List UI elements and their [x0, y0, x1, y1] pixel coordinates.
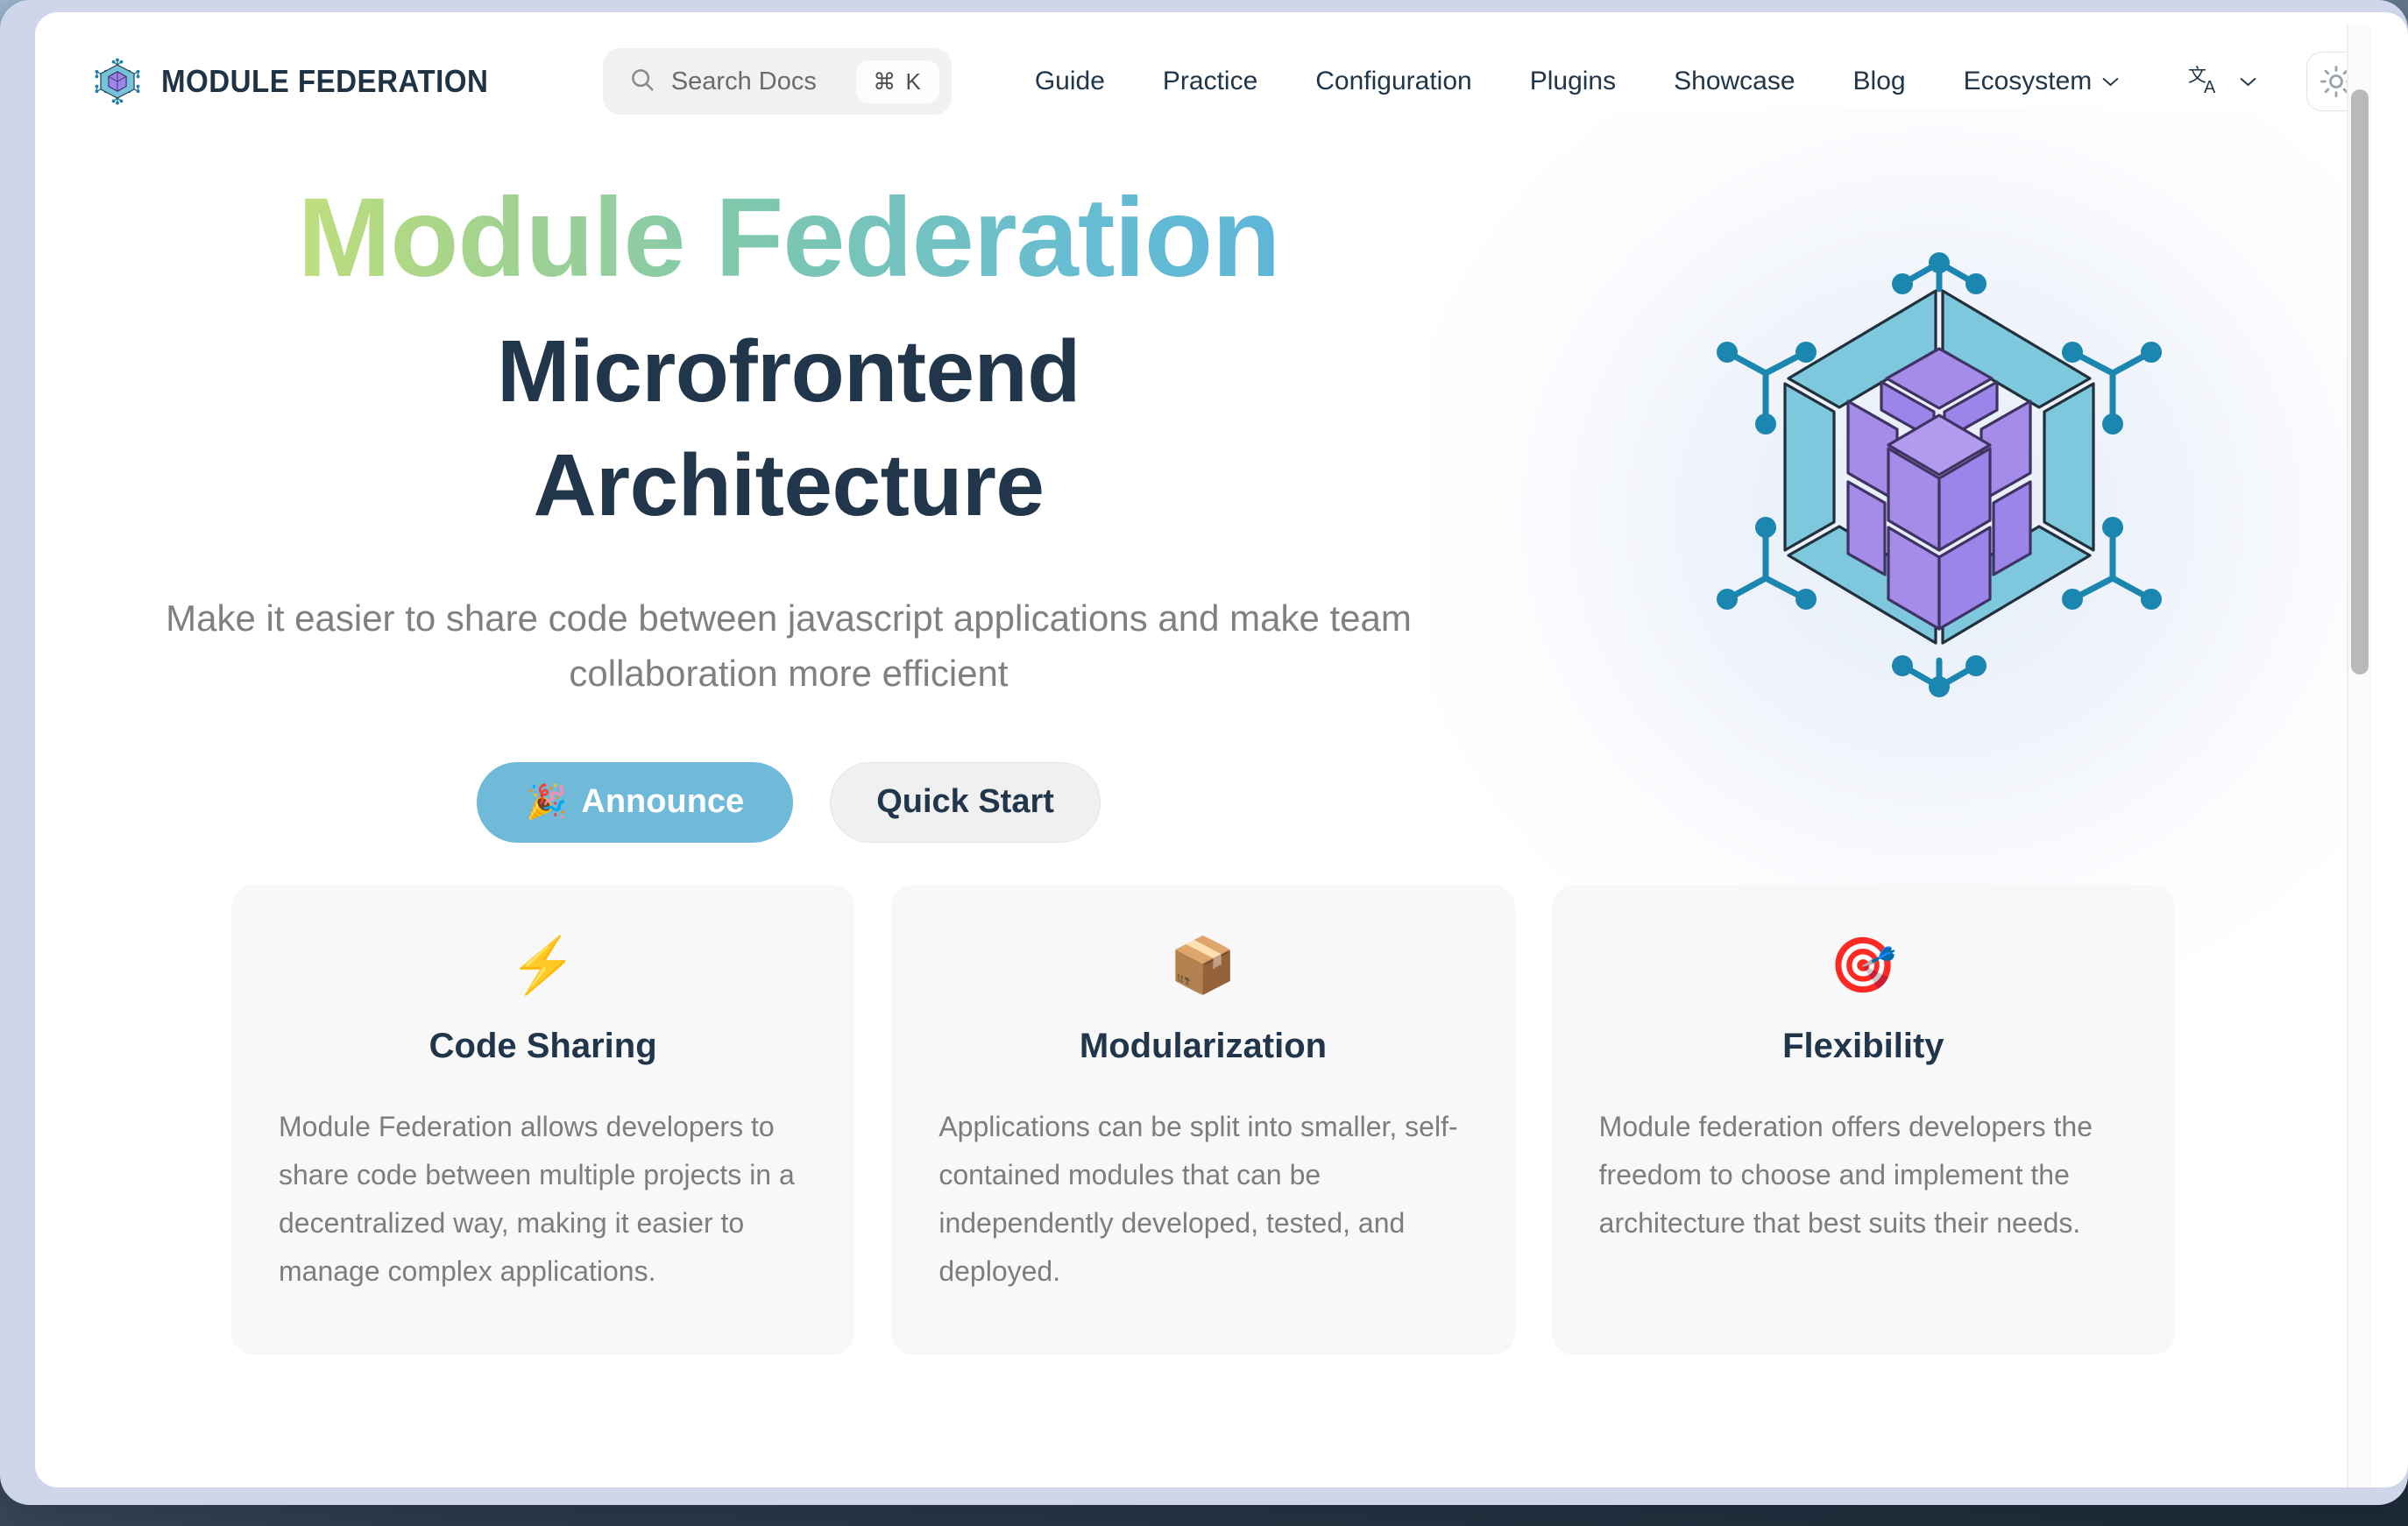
search-placeholder: Search Docs	[671, 67, 856, 96]
brand-name: MODULE FEDERATION	[161, 63, 488, 100]
nav-right-tools: 文 A	[2171, 52, 2371, 111]
quick-start-button-label: Quick Start	[876, 783, 1054, 821]
nav-link-label: Practice	[1163, 67, 1257, 96]
feature-card-title: Flexibility	[1599, 1027, 2128, 1066]
isometric-cube-network-illustration-icon	[1694, 238, 2185, 711]
announce-button[interactable]: 🎉 Announce	[477, 762, 793, 843]
search-shortcut-badge: ⌘ K	[856, 60, 939, 103]
search-icon	[629, 67, 655, 97]
site-navbar: MODULE FEDERATION Search Docs ⌘ K Guide	[35, 12, 2371, 151]
feature-card-description: Module federation offers developers the …	[1599, 1103, 2128, 1247]
nav-link-label: Configuration	[1315, 67, 1471, 96]
announce-button-label: Announce	[581, 783, 744, 821]
page-content: MODULE FEDERATION Search Docs ⌘ K Guide	[35, 12, 2371, 1487]
feature-card-title: Code Sharing	[279, 1027, 807, 1066]
quick-start-button[interactable]: Quick Start	[830, 762, 1101, 843]
lightning-bolt-icon: ⚡	[279, 939, 807, 1004]
browser-window-frame: MODULE FEDERATION Search Docs ⌘ K Guide	[0, 0, 2408, 1505]
feature-card-code-sharing[interactable]: ⚡ Code Sharing Module Federation allows …	[231, 885, 854, 1355]
dart-target-icon: 🎯	[1599, 939, 2128, 1004]
browser-viewport: MODULE FEDERATION Search Docs ⌘ K Guide	[35, 12, 2408, 1487]
nav-link-label: Plugins	[1530, 67, 1616, 96]
nav-link-label: Blog	[1853, 67, 1906, 96]
hero-illustration-column	[1507, 170, 2371, 711]
nav-link-configuration[interactable]: Configuration	[1286, 67, 1500, 96]
nav-link-label: Showcase	[1674, 67, 1795, 96]
hero-subtitle-line1: Microfrontend	[497, 322, 1080, 420]
feature-card-title: Modularization	[938, 1027, 1467, 1066]
feature-card-modularization[interactable]: 📦 Modularization Applications can be spl…	[891, 885, 1514, 1355]
module-federation-cube-logo-icon	[93, 57, 142, 106]
chevron-down-icon	[2101, 76, 2120, 88]
hero-text-column: Module Federation Microfrontend Architec…	[35, 170, 1507, 843]
feature-card-flexibility[interactable]: 🎯 Flexibility Module federation offers d…	[1552, 885, 2175, 1355]
nav-link-label: Guide	[1035, 67, 1105, 96]
nav-link-practice[interactable]: Practice	[1134, 67, 1286, 96]
svg-text:A: A	[2204, 78, 2216, 97]
brand-logo-link[interactable]: MODULE FEDERATION	[93, 57, 517, 106]
package-box-icon: 📦	[938, 939, 1467, 1004]
nav-link-ecosystem[interactable]: Ecosystem	[1935, 67, 2149, 96]
party-popper-icon: 🎉	[526, 786, 567, 819]
language-switcher-button[interactable]: 文 A	[2171, 64, 2273, 99]
hero-subtitle-line2: Architecture	[533, 436, 1044, 534]
vertical-scrollbar-thumb[interactable]	[2351, 89, 2369, 675]
hero-illustration-svg	[1694, 238, 2185, 711]
chevron-down-icon	[2239, 76, 2257, 88]
nav-link-blog[interactable]: Blog	[1824, 67, 1935, 96]
hero-description: Make it easier to share code between jav…	[70, 591, 1507, 700]
logo-svg	[93, 57, 142, 106]
hero-section: Module Federation Microfrontend Architec…	[35, 151, 2371, 843]
hero-subtitle: Microfrontend Architecture	[70, 314, 1507, 542]
feature-card-description: Module Federation allows developers to s…	[279, 1103, 807, 1296]
hero-cta-group: 🎉 Announce Quick Start	[70, 762, 1507, 843]
search-input[interactable]: Search Docs ⌘ K	[603, 48, 952, 115]
feature-cards-section: ⚡ Code Sharing Module Federation allows …	[35, 843, 2371, 1355]
nav-link-label: Ecosystem	[1964, 67, 2093, 96]
nav-link-showcase[interactable]: Showcase	[1645, 67, 1824, 96]
nav-link-plugins[interactable]: Plugins	[1501, 67, 1645, 96]
translate-icon: 文 A	[2187, 64, 2227, 99]
nav-link-guide[interactable]: Guide	[1006, 67, 1134, 96]
nav-links: Guide Practice Configuration Plugins Sho…	[1006, 67, 2149, 96]
feature-card-description: Applications can be split into smaller, …	[938, 1103, 1467, 1296]
hero-gradient-title: Module Federation	[70, 170, 1507, 306]
